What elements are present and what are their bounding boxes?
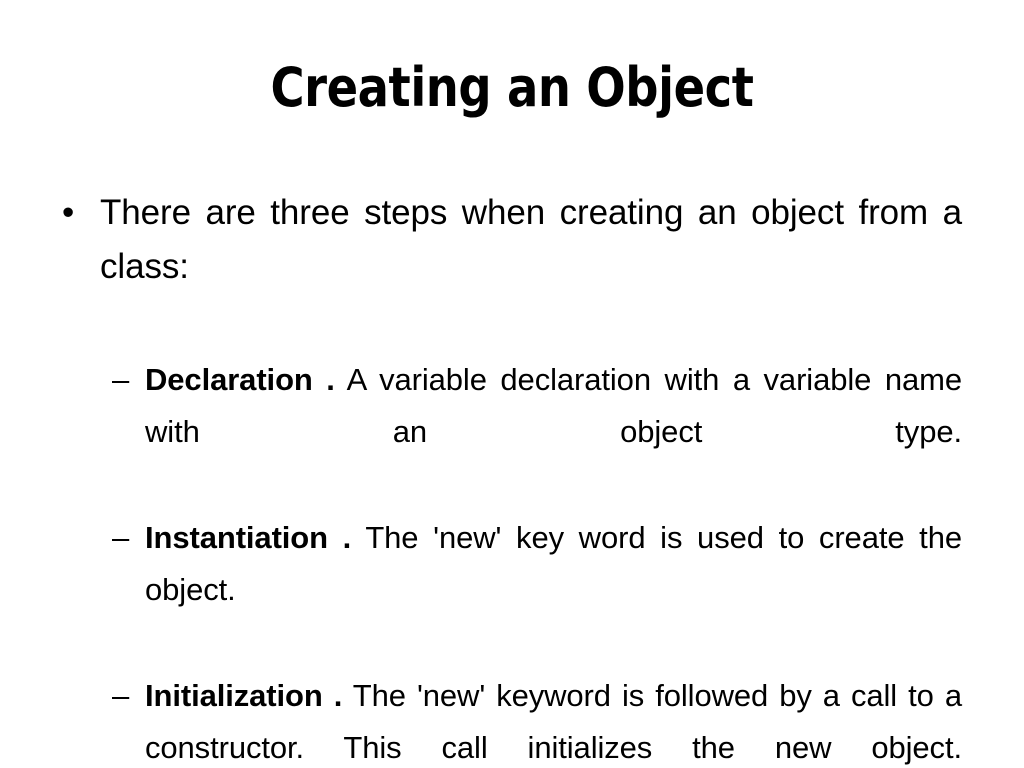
sub-bullet-term: Declaration . xyxy=(145,362,335,397)
dash-marker-icon: – xyxy=(112,354,129,406)
bullet-marker-icon: • xyxy=(62,186,74,240)
dash-marker-icon: – xyxy=(112,670,129,722)
sub-bullet-item-declaration: – Declaration . A variable declaration w… xyxy=(0,354,1024,510)
bullet-item: • There are three steps when creating an… xyxy=(0,186,1024,348)
sub-bullet-term: Instantiation . xyxy=(145,520,351,555)
page-title: Creating an Object xyxy=(72,56,953,120)
bullet-text: There are three steps when creating an o… xyxy=(100,193,962,340)
sub-bullet-text: Declaration . A variable declaration wit… xyxy=(145,362,962,501)
sub-bullet-term: Initialization . xyxy=(145,678,342,713)
sub-bullet-item-instantiation: – Instantiation . The 'new' key word is … xyxy=(0,512,1024,668)
slide-canvas: Creating an Object • There are three ste… xyxy=(0,0,1024,768)
sub-bullet-text: Instantiation . The 'new' key word is us… xyxy=(145,520,962,659)
sub-bullet-text: Initialization . The 'new' keyword is fo… xyxy=(145,678,962,768)
slide-body: • There are three steps when creating an… xyxy=(0,186,1024,768)
sub-bullet-item-initialization: – Initialization . The 'new' keyword is … xyxy=(0,670,1024,768)
dash-marker-icon: – xyxy=(112,512,129,564)
